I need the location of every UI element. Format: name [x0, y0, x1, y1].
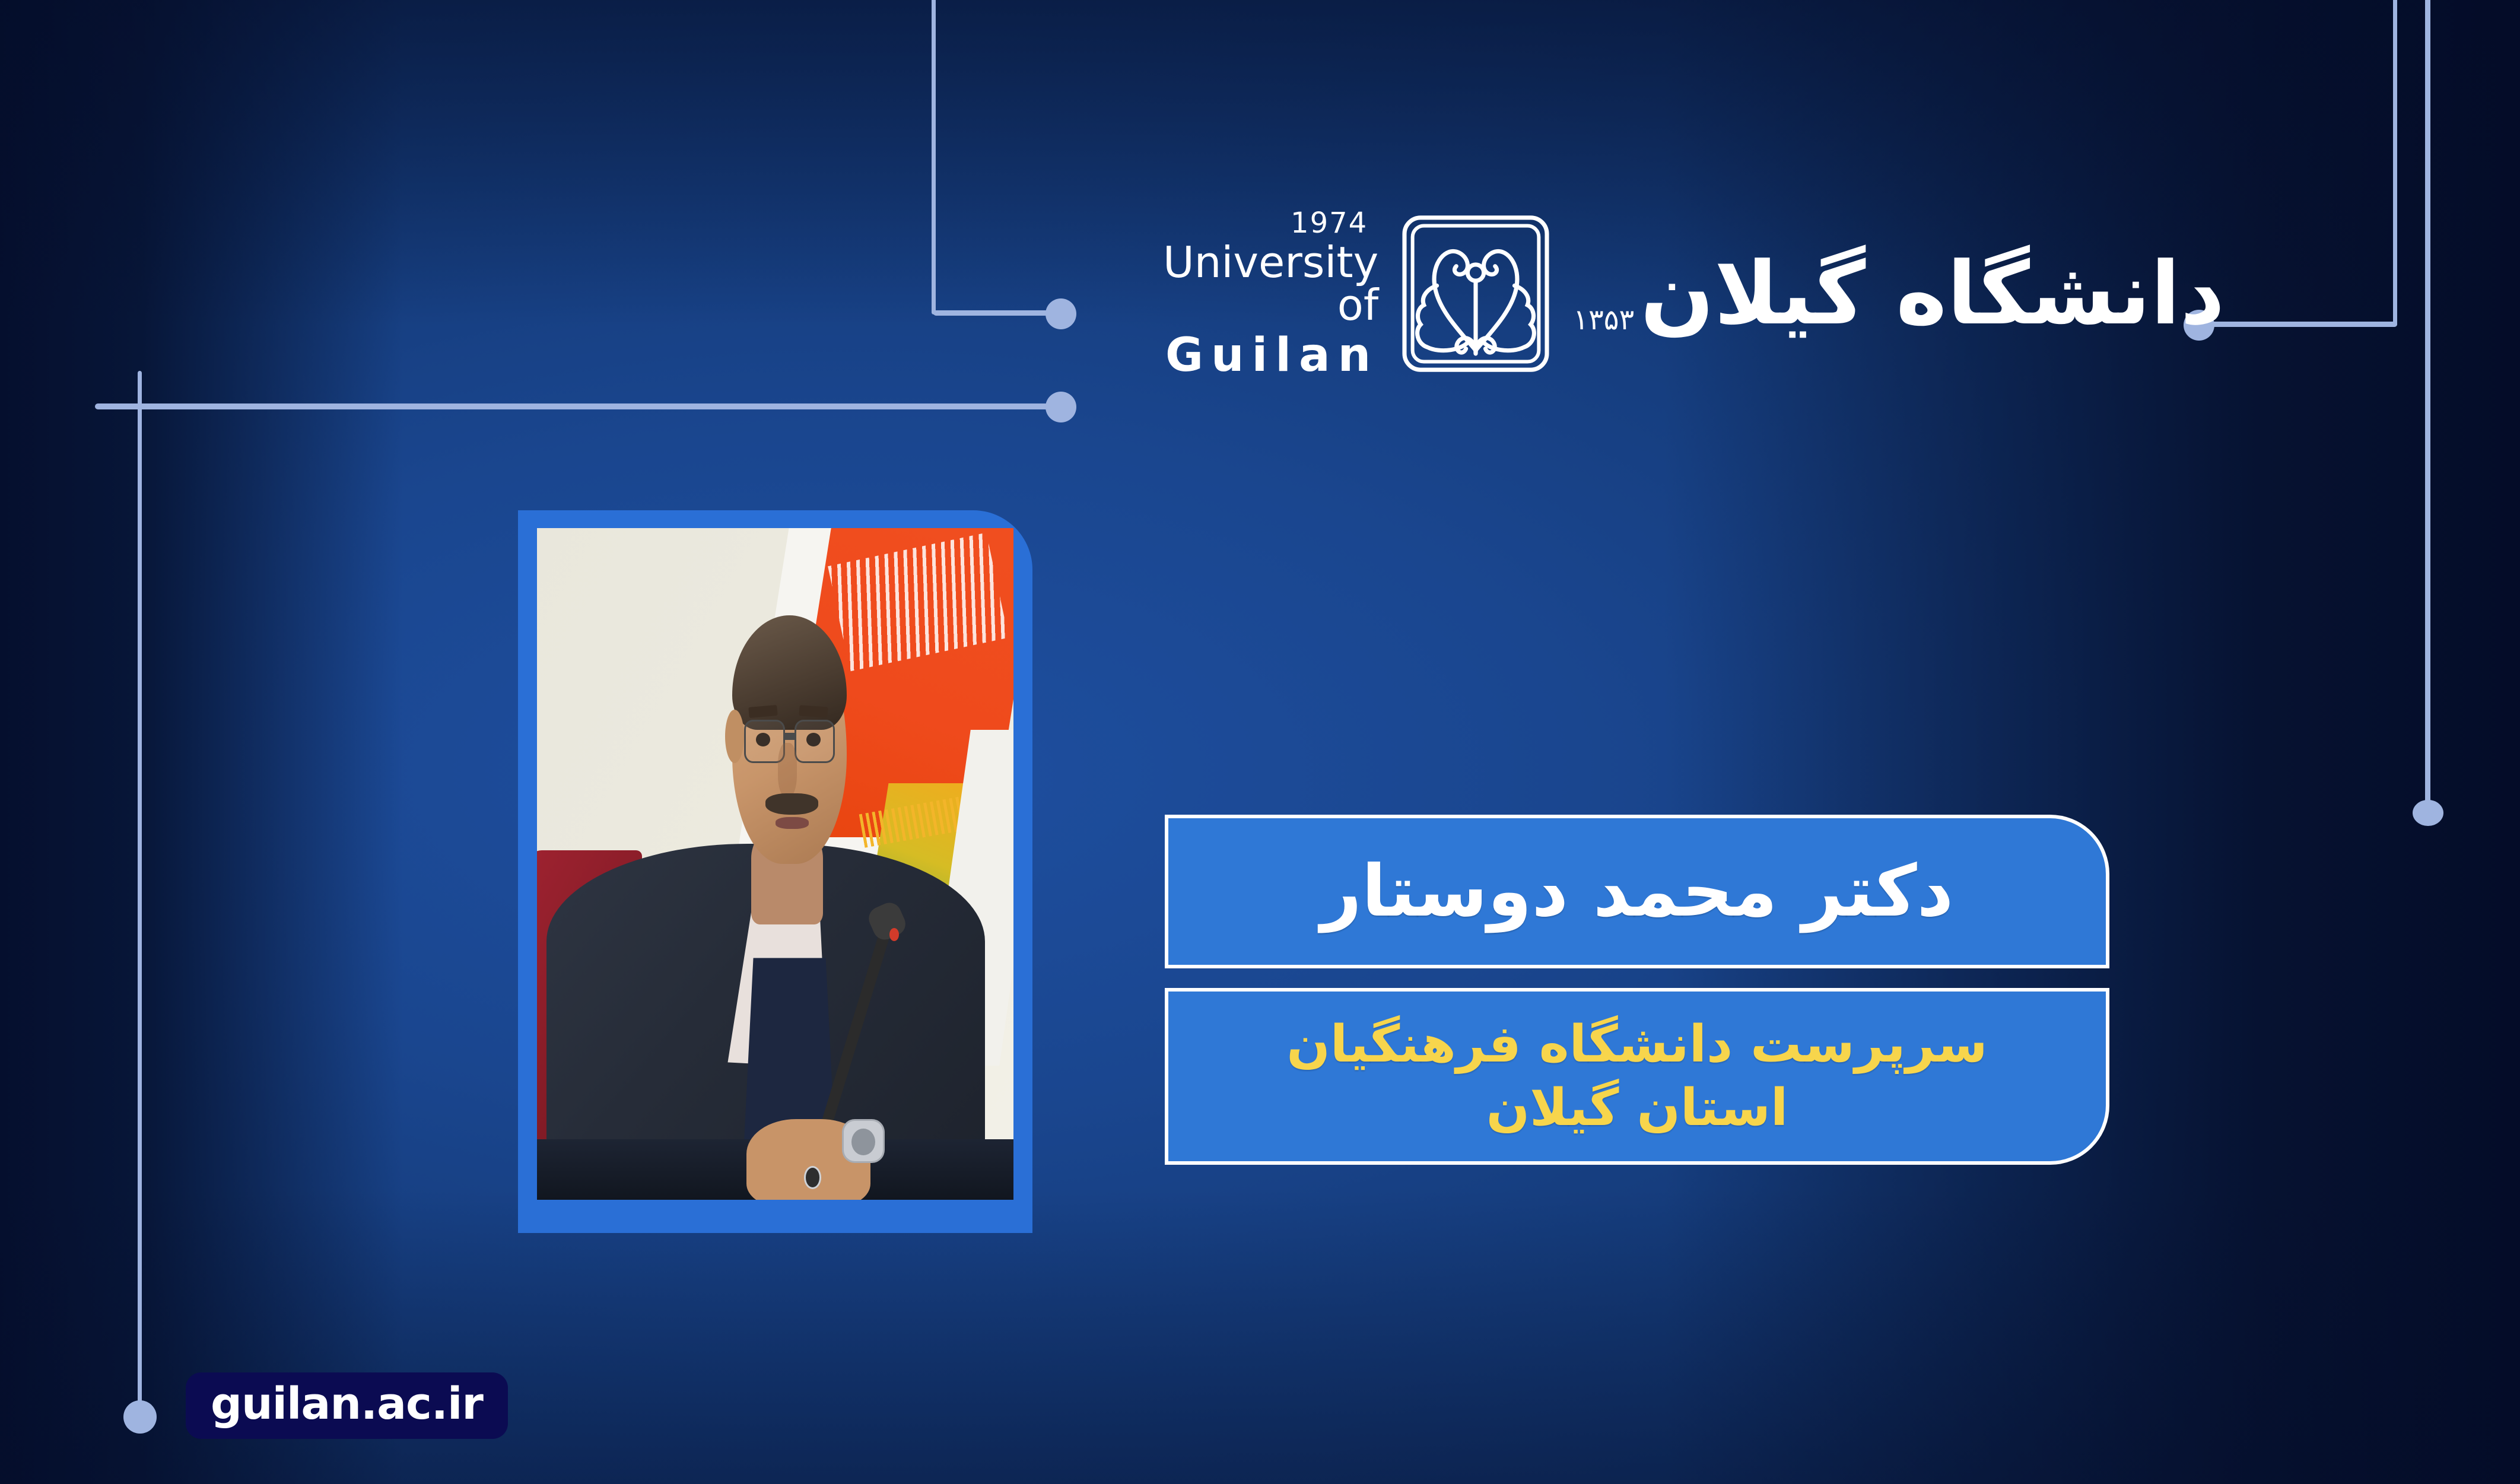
poster-canvas: 1974 University of Guilan ۱۳۵۳ دانشگاه گ… — [0, 0, 2520, 1484]
decor-line-horizontal-top-right — [2195, 322, 2397, 327]
decor-dot-right-edge-end — [2413, 800, 2443, 826]
decor-line-vertical-left — [138, 371, 142, 1418]
photo-nose — [778, 743, 797, 797]
logo-english-text: 1974 University of Guilan — [1163, 209, 1378, 379]
website-badge[interactable]: guilan.ac.ir — [186, 1372, 508, 1439]
photo-mouth — [776, 817, 809, 829]
person-role-line-1: سرپرست دانشگاه فرهنگیان — [1286, 1013, 1987, 1077]
logo-persian-text: ۱۳۵۳ دانشگاه گیلان — [1573, 246, 2225, 342]
logo-university-name-persian: دانشگاه گیلان — [1640, 246, 2225, 342]
person-name: دکتر محمد دوستار — [1321, 850, 1953, 933]
logo-year-gregorian: 1974 — [1163, 209, 1378, 237]
logo-university-word: University of — [1163, 241, 1378, 326]
logo-guilan-word: Guilan — [1163, 332, 1378, 379]
university-logo-lockup: 1974 University of Guilan ۱۳۵۳ دانشگاه گ… — [1163, 196, 2089, 392]
decor-dot-horizontal-long-end — [1046, 392, 1076, 422]
portrait-photo — [537, 528, 1013, 1200]
decor-line-horizontal-long — [95, 403, 1068, 409]
photo-ring — [804, 1166, 821, 1189]
photo-wristwatch-face — [851, 1129, 875, 1155]
person-role-banner: سرپرست دانشگاه فرهنگیان استان گیلان — [1165, 988, 2109, 1165]
background-shade-bottom — [0, 1187, 2520, 1484]
university-emblem-icon — [1387, 205, 1565, 383]
decor-dot-horizontal-short-end — [1046, 298, 1076, 329]
person-role-line-2: استان گیلان — [1486, 1076, 1788, 1140]
website-url[interactable]: guilan.ac.ir — [211, 1382, 483, 1426]
person-name-banner: دکتر محمد دوستار — [1165, 815, 2109, 968]
decor-dot-vertical-left-end — [123, 1400, 157, 1434]
decor-line-vertical-upper — [932, 0, 936, 314]
decor-line-vertical-top-right — [2393, 0, 2397, 326]
decor-line-vertical-right-edge — [2425, 0, 2430, 807]
logo-year-hijri: ۱۳۵۳ — [1573, 303, 1634, 336]
photo-glasses-bridge — [785, 733, 796, 739]
portrait-frame — [518, 510, 1032, 1233]
photo-eyebrow-right — [799, 705, 828, 717]
photo-moustache — [765, 793, 818, 815]
photo-glasses-right — [795, 720, 835, 764]
